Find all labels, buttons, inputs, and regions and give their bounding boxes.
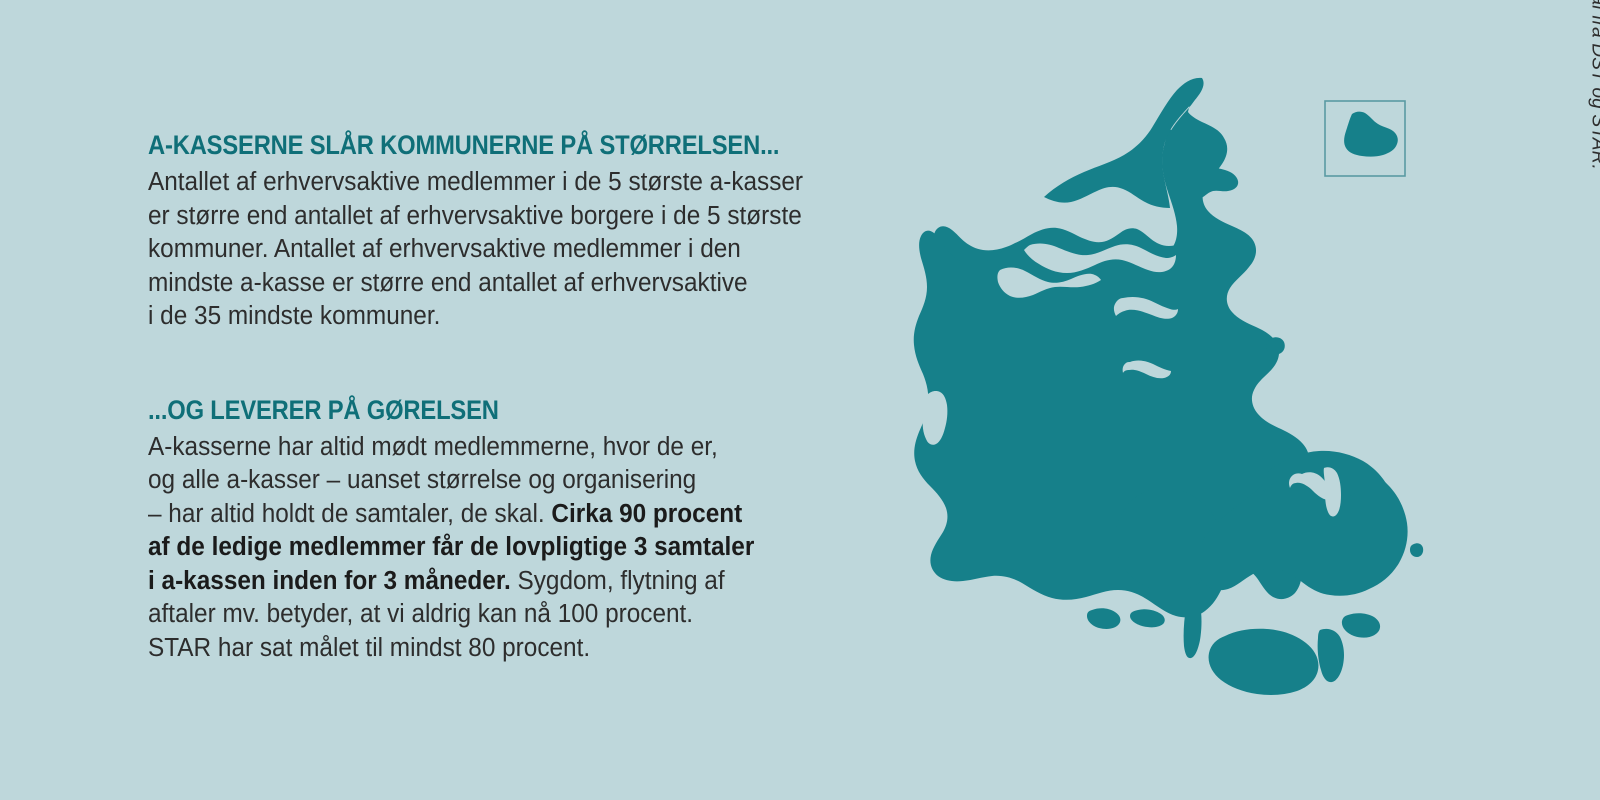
text-run: Antallet af erhvervsaktive medlemmer i d… xyxy=(148,168,803,196)
section-one-heading: A-KASSERNE SLÅR KOMMUNERNE PÅ STØRRELSEN… xyxy=(148,128,817,162)
section-a-kasserne-slaar: A-KASSERNE SLÅR KOMMUNERNE PÅ STØRRELSEN… xyxy=(148,128,908,334)
text-run: i a-kassen inden for 3 måneder. xyxy=(148,567,511,595)
source-note: Kilde: DAK på baggrund af tal fra DST og… xyxy=(1586,0,1600,170)
text-run: mindste a-kasse er større end antallet a… xyxy=(148,269,748,297)
section-two-body: A-kasserne har altid mødt medlemmerne, h… xyxy=(148,431,874,666)
denmark-map xyxy=(880,70,1480,720)
section-one-body: Antallet af erhvervsaktive medlemmer i d… xyxy=(148,166,874,334)
text-run: – har altid holdt de samtaler, de skal. xyxy=(148,500,551,528)
denmark-map-svg xyxy=(880,70,1480,720)
lolland-island xyxy=(1209,629,1319,695)
moen-island xyxy=(1342,613,1380,637)
text-run: A-kasserne har altid mødt medlemmerne, h… xyxy=(148,433,718,461)
text-run: STAR har sat målet til mindst 80 procent… xyxy=(148,634,590,662)
small-island-east xyxy=(1410,543,1423,557)
anholt-island xyxy=(1266,337,1285,355)
text-run: i de 35 mindste kommuner. xyxy=(148,302,440,330)
infographic-page: A-KASSERNE SLÅR KOMMUNERNE PÅ STØRRELSEN… xyxy=(0,0,1600,800)
text-run: er større end antallet af erhvervsaktive… xyxy=(148,202,802,230)
bornholm-island xyxy=(1344,112,1398,157)
falster-island xyxy=(1318,629,1344,682)
text-run: kommuner. Antallet af erhvervsaktive med… xyxy=(148,235,741,263)
als-island xyxy=(1087,608,1120,629)
section-og-leverer: ...OG LEVERER PÅ GØRELSEN A-kasserne har… xyxy=(148,393,908,666)
text-run: og alle a-kasser – uanset størrelse og o… xyxy=(148,466,696,494)
text-run: af de ledige medlemmer får de lovpligtig… xyxy=(148,533,754,561)
text-column: A-KASSERNE SLÅR KOMMUNERNE PÅ STØRRELSEN… xyxy=(148,128,908,665)
aeroe-island xyxy=(1130,609,1165,627)
section-two-heading: ...OG LEVERER PÅ GØRELSEN xyxy=(148,393,817,427)
text-run: Sygdom, flytning af xyxy=(511,567,725,595)
text-run: aftaler mv. betyder, at vi aldrig kan nå… xyxy=(148,600,693,628)
text-run: Cirka 90 procent xyxy=(551,500,742,528)
laesoe-island xyxy=(1192,168,1239,199)
